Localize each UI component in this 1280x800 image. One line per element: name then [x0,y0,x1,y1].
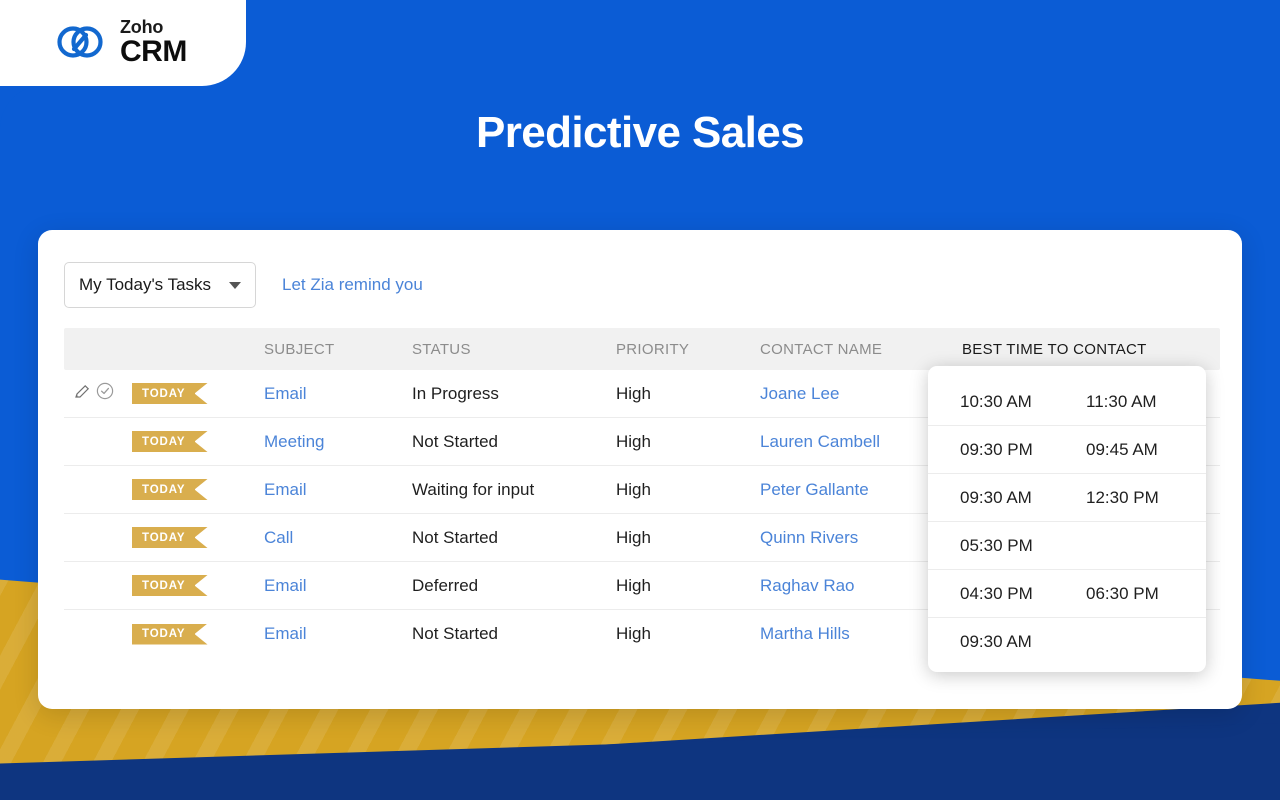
page-title: Predictive Sales [0,108,1280,158]
cell-status: Waiting for input [412,480,616,500]
overlay-rows: 10:30 AM11:30 AM09:30 PM09:45 AM09:30 AM… [928,378,1206,666]
cell-status: Not Started [412,432,616,452]
brand-name-crm: CRM [120,37,187,67]
overlay-time-primary: 09:30 AM [960,632,1048,652]
cell-priority: High [616,624,760,644]
pencil-icon[interactable] [74,383,91,405]
cell-subject[interactable]: Meeting [264,432,412,452]
overlay-time-primary: 10:30 AM [960,392,1048,412]
today-ribbon-badge: TODAY [132,575,208,596]
today-ribbon-badge: TODAY [132,383,208,404]
overlay-time-secondary: 09:45 AM [1086,440,1174,460]
overlay-time-primary: 05:30 PM [960,536,1048,556]
cell-priority: High [616,384,760,404]
cell-status: In Progress [412,384,616,404]
overlay-time-row: 10:30 AM11:30 AM [928,378,1206,426]
row-action-icons[interactable] [74,382,124,405]
cell-priority: High [616,480,760,500]
overlay-time-row: 04:30 PM06:30 PM [928,570,1206,618]
row-flag-cell: TODAY [64,479,264,500]
row-flag-cell: TODAY [64,575,264,596]
today-ribbon-badge: TODAY [132,527,208,548]
column-header-best-time-to-contact[interactable]: BEST TIME TO CONTACT [962,341,1220,358]
cell-subject[interactable]: Email [264,384,412,404]
cell-status: Deferred [412,576,616,596]
column-header-status[interactable]: STATUS [412,341,616,358]
column-header-contact-name[interactable]: CONTACT NAME [760,341,962,358]
brand-name-zoho: Zoho [120,18,187,36]
card-toolbar: My Today's Tasks Let Zia remind you [64,262,423,308]
overlay-time-primary: 09:30 AM [960,488,1048,508]
brand-logo[interactable]: Zoho CRM [54,16,187,68]
overlay-time-primary: 04:30 PM [960,584,1048,604]
cell-priority: High [616,576,760,596]
overlay-time-primary: 09:30 PM [960,440,1048,460]
overlay-time-row: 05:30 PM [928,522,1206,570]
cell-subject[interactable]: Email [264,480,412,500]
today-ribbon-badge: TODAY [132,479,208,500]
table-header-row: SUBJECT STATUS PRIORITY CONTACT NAME BES… [64,328,1220,370]
cell-status: Not Started [412,528,616,548]
today-ribbon-badge: TODAY [132,624,208,645]
brand-wordmark: Zoho CRM [120,18,187,67]
cell-subject[interactable]: Call [264,528,412,548]
overlay-time-secondary: 12:30 PM [1086,488,1174,508]
cell-subject[interactable]: Email [264,576,412,596]
overlay-time-secondary: 06:30 PM [1086,584,1174,604]
check-circle-icon[interactable] [96,382,114,405]
overlay-time-row: 09:30 AM12:30 PM [928,474,1206,522]
row-flag-cell: TODAY [64,624,264,645]
column-header-subject[interactable]: SUBJECT [264,341,412,358]
cell-priority: High [616,528,760,548]
today-ribbon-badge: TODAY [132,431,208,452]
cell-subject[interactable]: Email [264,624,412,644]
zia-reminder-link[interactable]: Let Zia remind you [282,275,423,295]
best-time-overlay-panel: 10:30 AM11:30 AM09:30 PM09:45 AM09:30 AM… [928,366,1206,672]
cell-priority: High [616,432,760,452]
row-flag-cell: TODAY [64,527,264,548]
row-flag-cell: TODAY [64,382,264,405]
view-selector-label: My Today's Tasks [79,275,211,295]
view-selector-dropdown[interactable]: My Today's Tasks [64,262,256,308]
cell-status: Not Started [412,624,616,644]
overlay-time-row: 09:30 AM [928,618,1206,666]
overlay-time-secondary: 11:30 AM [1086,392,1174,412]
app-screenshot: Zoho CRM Predictive Sales My Today's Tas… [0,0,1280,800]
column-header-priority[interactable]: PRIORITY [616,341,760,358]
overlay-time-row: 09:30 PM09:45 AM [928,426,1206,474]
chevron-down-icon [229,282,241,289]
zoho-interlocking-rings-icon [54,16,106,68]
row-flag-cell: TODAY [64,431,264,452]
